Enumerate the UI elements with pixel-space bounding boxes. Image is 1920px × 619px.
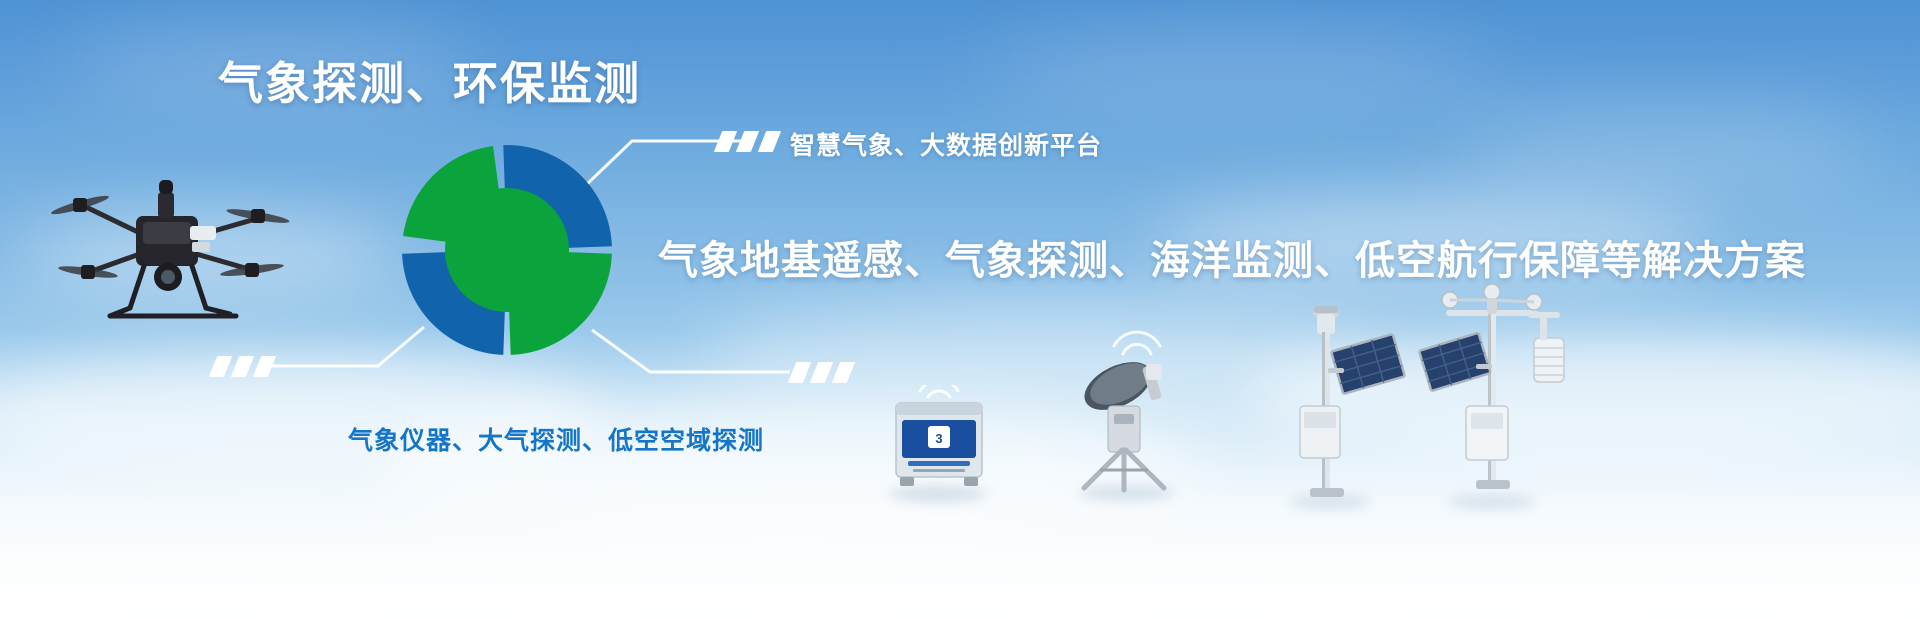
label-bottom-left: 气象仪器、大气探测、低空空域探测 xyxy=(348,421,764,457)
label-top-right: 智慧气象、大数据创新平台 xyxy=(790,126,1102,162)
drone xyxy=(40,150,300,350)
slash-marks-bottom-left xyxy=(213,356,272,377)
label-main-solutions: 气象地基遥感、气象探测、海洋监测、低空航行保障等解决方案 xyxy=(658,228,1806,286)
slash-glyph xyxy=(810,362,833,383)
slash-glyph xyxy=(714,131,737,152)
slash-glyph xyxy=(209,356,232,377)
page-title: 气象探测、环保监测 xyxy=(218,47,641,112)
slash-marks-top-right xyxy=(718,131,777,152)
anemometer-mast xyxy=(1410,278,1600,508)
solar-weather-station xyxy=(1270,290,1410,505)
svg-text:3: 3 xyxy=(935,431,942,446)
ring-diagram xyxy=(392,135,622,365)
ring-inner-circle xyxy=(445,188,569,312)
radiation-shield xyxy=(1528,312,1564,382)
cloud-wisp xyxy=(980,40,1500,100)
slash-glyph xyxy=(231,356,254,377)
slash-glyph xyxy=(736,131,759,152)
cloud-wisp xyxy=(1450,110,1880,190)
banner-root: 气象探测、环保监测 智慧气象、大数据创新平台 气象地基遥感、气象探测、海洋监测、… xyxy=(0,0,1920,619)
slash-marks-bottom-right xyxy=(792,362,851,383)
slash-glyph xyxy=(788,362,811,383)
lidar-cabinet: 3 xyxy=(880,385,998,495)
tripod-radar xyxy=(1060,320,1200,495)
